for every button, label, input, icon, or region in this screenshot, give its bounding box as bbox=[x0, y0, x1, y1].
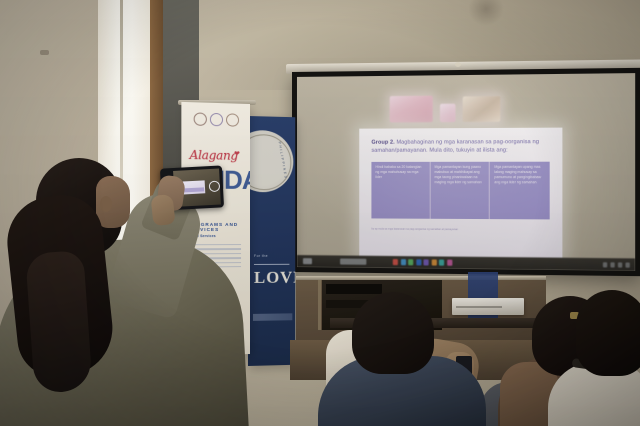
banner-logo-row bbox=[194, 112, 239, 126]
app-icon-8[interactable] bbox=[447, 260, 452, 266]
cabinet-divider bbox=[318, 280, 321, 330]
clock-icon[interactable] bbox=[625, 262, 629, 267]
blue-banner-word: LOVE bbox=[254, 268, 295, 288]
slide-table: Hindi bababa sa 20 katangian ng mga mahu… bbox=[371, 161, 549, 219]
av-equipment bbox=[326, 284, 382, 294]
ceiling-smudge bbox=[468, 0, 504, 26]
projection-screen: Group 2. Magbahaginan ng mga karanasan s… bbox=[292, 68, 640, 276]
seated-woman-right-head bbox=[576, 290, 640, 376]
taskbar-app-icons[interactable] bbox=[393, 259, 452, 266]
tray-icon-3[interactable] bbox=[618, 262, 622, 267]
blue-banner-small-text: For the bbox=[254, 254, 268, 258]
participant-thumbnail-1 bbox=[390, 96, 433, 123]
video-call-thumbnails bbox=[390, 95, 500, 122]
slide-heading-text: Magbahaginan ng mga karanasan sa pag-oor… bbox=[371, 139, 539, 154]
app-icon-6[interactable] bbox=[431, 259, 436, 265]
app-icon-7[interactable] bbox=[439, 260, 444, 266]
participant-thumbnail-2 bbox=[440, 104, 456, 122]
blue-banner-footer bbox=[253, 313, 292, 321]
blue-roll-up-banner: PHILIPPINES For the LOVE bbox=[248, 116, 295, 366]
start-button-icon[interactable] bbox=[303, 258, 312, 264]
slide-table-cell: Mga pamantayan kung paano mabubuo at mah… bbox=[430, 162, 489, 219]
slide-heading: Group 2. Magbahaginan ng mga karanasan s… bbox=[371, 138, 549, 156]
blue-banner-rule bbox=[254, 264, 289, 265]
slide-heading-label: Group 2. bbox=[371, 140, 394, 146]
ring-icon bbox=[226, 113, 239, 126]
seated-man-head bbox=[352, 292, 434, 374]
tray-icon-1[interactable] bbox=[603, 262, 607, 267]
app-icon-1[interactable] bbox=[393, 259, 398, 265]
standing-photographer-hand-left bbox=[150, 194, 175, 226]
ceiling-fixture-icon bbox=[455, 62, 461, 67]
standing-photographer-ear bbox=[100, 196, 112, 212]
app-icon-5[interactable] bbox=[424, 259, 429, 265]
system-tray[interactable] bbox=[603, 262, 630, 267]
photograph-scene: Group 2. Magbahaginan ng mga karanasan s… bbox=[0, 0, 640, 426]
slide-table-cell: Mga pamantayan upang mas lalong maging m… bbox=[490, 161, 550, 219]
app-icon-3[interactable] bbox=[408, 259, 413, 265]
presentation-slide: Group 2. Magbahaginan ng mga karanasan s… bbox=[359, 128, 562, 260]
windows-taskbar[interactable] bbox=[297, 255, 635, 271]
ring-icon bbox=[210, 113, 223, 126]
tray-icon-2[interactable] bbox=[610, 262, 614, 267]
screen-surface: Group 2. Magbahaginan ng mga karanasan s… bbox=[297, 73, 635, 271]
dvd-player-slot bbox=[456, 306, 502, 308]
app-icon-4[interactable] bbox=[416, 259, 421, 265]
screen-frame: Group 2. Magbahaginan ng mga karanasan s… bbox=[292, 68, 640, 276]
wall-mark bbox=[40, 50, 49, 55]
slide-footnote: Ito ay mula sa mga karanasan sa pag-oorg… bbox=[371, 227, 549, 232]
slide-table-cell: Hindi bababa sa 20 katangian ng mga mahu… bbox=[371, 162, 429, 219]
window-mullion bbox=[120, 0, 123, 180]
participant-thumbnail-3 bbox=[463, 96, 500, 122]
ring-icon bbox=[194, 112, 207, 126]
standing-photographer-ponytail bbox=[25, 250, 93, 394]
app-icon-2[interactable] bbox=[400, 259, 405, 265]
heart-icon: ❤ bbox=[234, 150, 240, 158]
search-input[interactable] bbox=[340, 258, 366, 264]
